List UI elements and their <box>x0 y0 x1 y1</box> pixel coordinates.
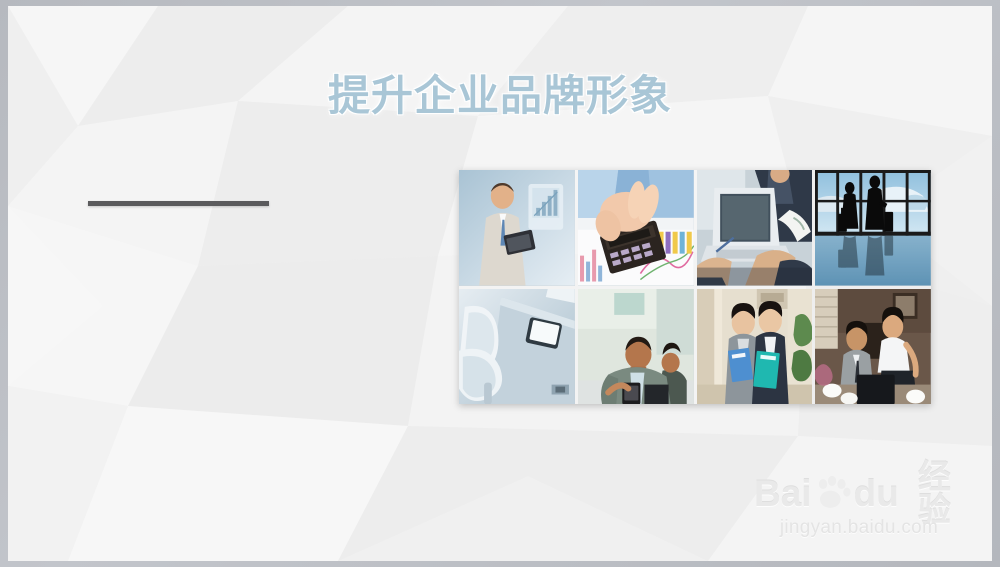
watermark-logo-row: Bai du 经验 <box>754 472 964 514</box>
photo-calculator-charts[interactable] <box>578 170 694 286</box>
photo-collage-grid <box>459 170 931 404</box>
divider-bar <box>88 201 269 206</box>
watermark-brand-suffix: du <box>854 475 899 512</box>
photo-businessman-tablet[interactable] <box>459 170 575 286</box>
bear-paw-icon <box>815 475 851 511</box>
slide-title: 提升企业品牌形象 <box>8 62 992 123</box>
photo-office-discussion[interactable] <box>815 289 931 405</box>
photo-businesswomen-folders[interactable] <box>697 289 813 405</box>
baidu-jingyan-watermark: Bai du 经验 jingyan.baidu.com <box>754 472 964 539</box>
photo-airport-silhouettes[interactable] <box>815 170 931 286</box>
photo-laptop-meeting[interactable] <box>697 170 813 286</box>
watermark-brand-prefix: Bai <box>754 475 812 512</box>
slide-canvas: 提升企业品牌形象 <box>8 6 992 561</box>
slide-outer-frame: 提升企业品牌形象 <box>0 0 1000 567</box>
watermark-url: jingyan.baidu.com <box>754 517 964 539</box>
photo-businessman-phone[interactable] <box>578 289 694 405</box>
photo-office-chair-tablet[interactable] <box>459 289 575 405</box>
